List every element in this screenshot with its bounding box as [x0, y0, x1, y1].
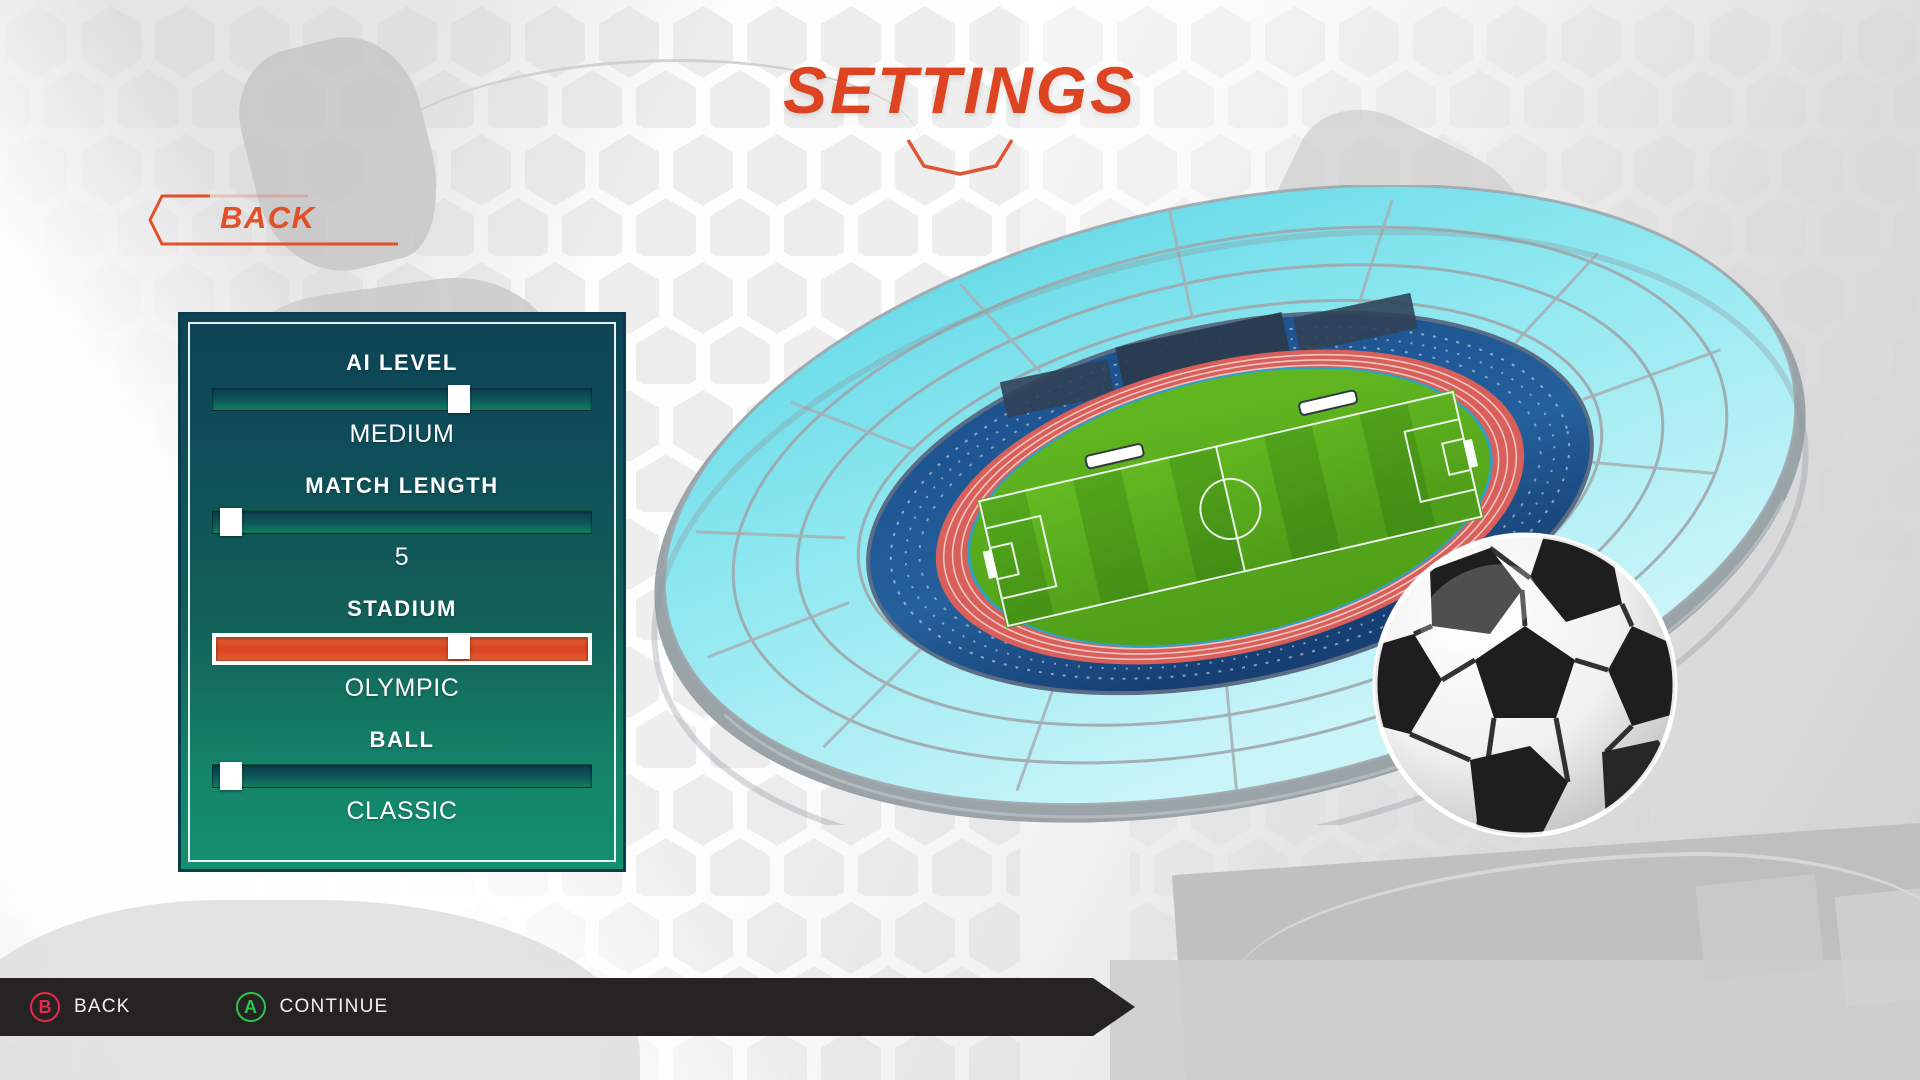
slider-handle[interactable]	[448, 385, 470, 413]
bottom-bar-back-action[interactable]: B BACK	[30, 992, 131, 1022]
settings-screen: SETTINGS BACK AI LEVEL MEDIUM MATCH LE	[0, 0, 1920, 1080]
stadium-slider[interactable]	[212, 633, 592, 665]
bottom-action-bar: B BACK A CONTINUE	[0, 978, 1135, 1036]
setting-label: AI LEVEL	[212, 350, 592, 376]
bottom-bar-back-label: BACK	[74, 996, 131, 1018]
setting-value: MEDIUM	[212, 420, 592, 449]
gamepad-b-button-icon: B	[30, 992, 60, 1022]
slider-handle[interactable]	[448, 635, 470, 659]
setting-row-ai-level: AI LEVEL MEDIUM	[212, 350, 592, 449]
back-button-label: BACK	[220, 200, 316, 236]
setting-label: BALL	[212, 727, 592, 753]
setting-value: 5	[212, 543, 592, 572]
back-button[interactable]: BACK	[148, 192, 398, 254]
soccer-ball-illustration	[1370, 530, 1680, 840]
setting-label: STADIUM	[212, 596, 592, 622]
ai-level-slider[interactable]	[212, 387, 592, 411]
chevron-down-outline-icon	[904, 136, 1016, 178]
bottom-bar-continue-label: CONTINUE	[280, 996, 389, 1018]
gamepad-a-button-icon: A	[236, 992, 266, 1022]
setting-row-match-length: MATCH LENGTH 5	[212, 473, 592, 572]
slider-handle[interactable]	[220, 508, 242, 536]
setting-value: OLYMPIC	[212, 674, 592, 703]
match-length-slider[interactable]	[212, 510, 592, 534]
slider-track	[212, 510, 592, 534]
bottom-bar-continue-action[interactable]: A CONTINUE	[236, 992, 389, 1022]
slider-track	[216, 637, 588, 661]
setting-value: CLASSIC	[212, 797, 592, 826]
page-title: SETTINGS	[0, 52, 1920, 128]
ball-slider[interactable]	[212, 764, 592, 788]
slider-handle[interactable]	[220, 762, 242, 790]
setting-label: MATCH LENGTH	[212, 473, 592, 499]
slider-track	[212, 387, 592, 411]
slider-track	[212, 764, 592, 788]
setting-row-ball: BALL CLASSIC	[212, 727, 592, 826]
settings-panel: AI LEVEL MEDIUM MATCH LENGTH 5 STADIUM	[178, 312, 626, 872]
page-title-block: SETTINGS	[0, 52, 1920, 183]
setting-row-stadium: STADIUM OLYMPIC	[212, 596, 592, 703]
